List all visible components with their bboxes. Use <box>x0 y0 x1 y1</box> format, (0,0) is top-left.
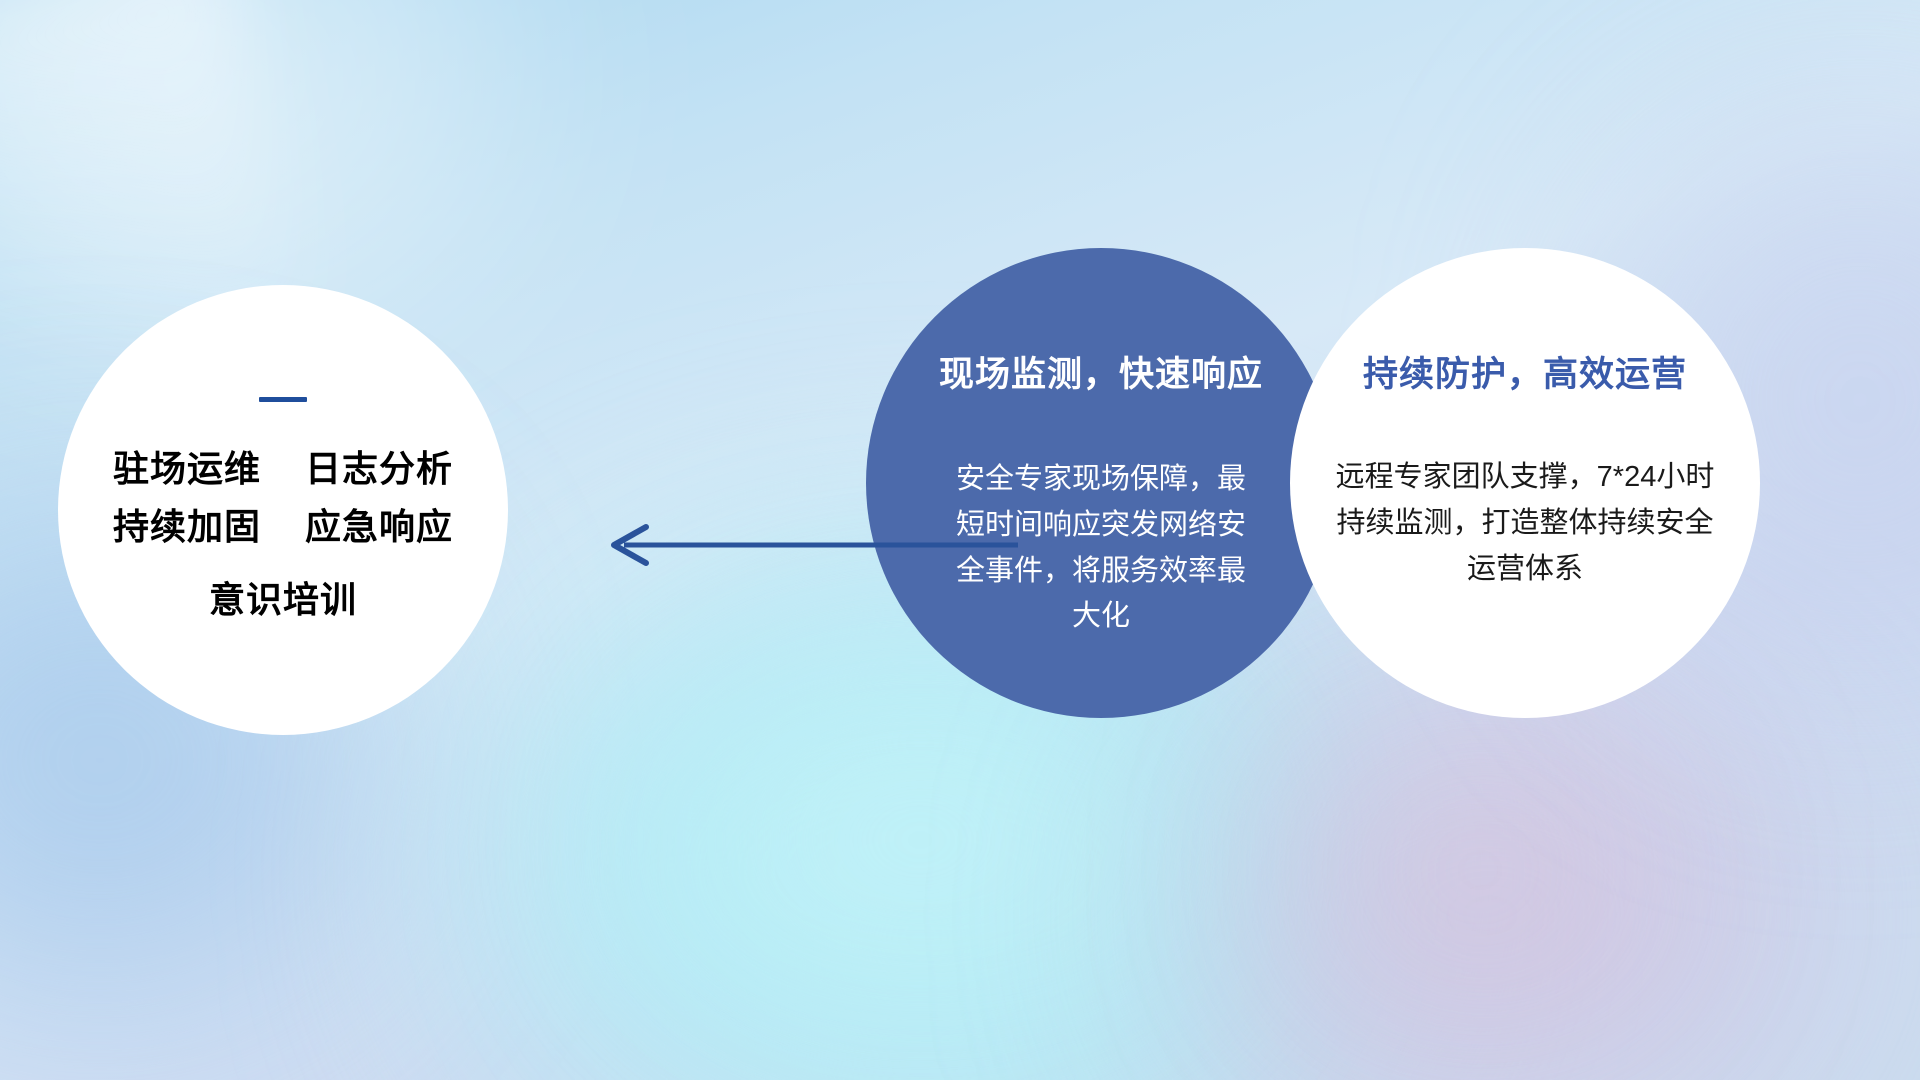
left-keyword-line-2: 持续加固 应急响应 <box>113 498 453 556</box>
left-keyword-list: 驻场运维 日志分析 持续加固 应急响应 意识培训 <box>113 440 453 629</box>
left-keyword-line-1: 驻场运维 日志分析 <box>113 440 453 498</box>
middle-circle-title: 现场监测，快速响应 <box>939 346 1263 397</box>
background-glow-cyan-core <box>660 680 1180 1000</box>
right-circle-content: 持续防护，高效运营 远程专家团队支撑，7*24小时持续监测，打造整体持续安全运营… <box>1290 248 1760 718</box>
middle-circle-content: 现场监测，快速响应 安全专家现场保障，最短时间响应突发网络安全事件，将服务效率最… <box>866 248 1336 718</box>
background-glow-pink <box>1330 760 1630 980</box>
left-keyword-line-3: 意识培训 <box>113 571 453 629</box>
left-circle-content: 驻场运维 日志分析 持续加固 应急响应 意识培训 <box>58 285 508 735</box>
slide-canvas: 驻场运维 日志分析 持续加固 应急响应 意识培训 现场监测，快速响应 安全专家现… <box>0 0 1920 1080</box>
divider-rule <box>259 397 307 402</box>
right-circle-body: 远程专家团队支撑，7*24小时持续监测，打造整体持续安全运营体系 <box>1325 455 1725 592</box>
middle-circle-body: 安全专家现场保障，最短时间响应突发网络安全事件，将服务效率最大化 <box>951 457 1251 640</box>
right-circle-title: 持续防护，高效运营 <box>1363 346 1687 397</box>
